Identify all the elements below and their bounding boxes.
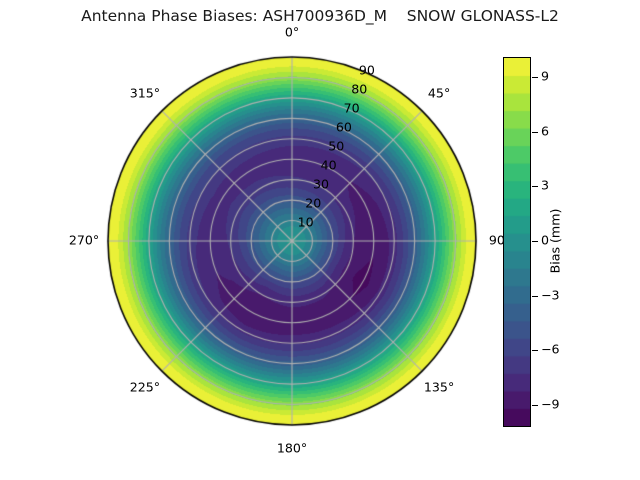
angular-tick-label-0: 0° (285, 27, 299, 40)
colorbar-tick-mark-6 (532, 132, 538, 133)
colorbar-tick-mark--6 (532, 350, 538, 351)
colorbar-tick-mark-0 (532, 241, 538, 242)
angular-tick-label-225: 225° (130, 382, 160, 395)
radial-tick-label-70: 70 (344, 103, 360, 116)
colorbar-tick-label--3: −3 (541, 289, 560, 302)
angular-tick-label-180: 180° (277, 443, 307, 456)
radial-tick-label-10: 10 (298, 217, 314, 230)
radial-tick-label-30: 30 (313, 179, 329, 192)
radial-tick-label-50: 50 (328, 141, 344, 154)
colorbar-tick-label-6: 6 (541, 125, 549, 138)
colorbar-tick-label-9: 9 (541, 71, 549, 84)
colorbar-tick-mark--3 (532, 296, 538, 297)
colorbar-tick-label-3: 3 (541, 180, 549, 193)
angular-tick-label-45: 45° (428, 88, 450, 101)
radial-tick-label-20: 20 (305, 198, 321, 211)
colorbar-tick-label--6: −6 (541, 344, 560, 357)
angular-tick-label-315: 315° (130, 88, 160, 101)
colorbar-tick-label--9: −9 (541, 399, 560, 412)
angular-tick-label-135: 135° (424, 382, 454, 395)
angular-tick-label-270: 270° (69, 235, 99, 248)
colorbar-axis-label: Bias (mm) (550, 209, 563, 274)
colorbar: −9−6−30369 (503, 57, 529, 425)
radial-tick-label-80: 80 (351, 84, 367, 97)
colorbar-tick-mark-3 (532, 186, 538, 187)
colorbar-tick-mark-9 (532, 77, 538, 78)
colorbar-tick-mark--9 (532, 405, 538, 406)
polar-chart-figure: Antenna Phase Biases: ASH700936D_M SNOW … (0, 0, 640, 480)
radial-tick-label-40: 40 (321, 160, 337, 173)
radial-tick-label-60: 60 (336, 122, 352, 135)
radial-tick-label-90: 90 (359, 65, 375, 78)
colorbar-gradient (503, 57, 531, 427)
